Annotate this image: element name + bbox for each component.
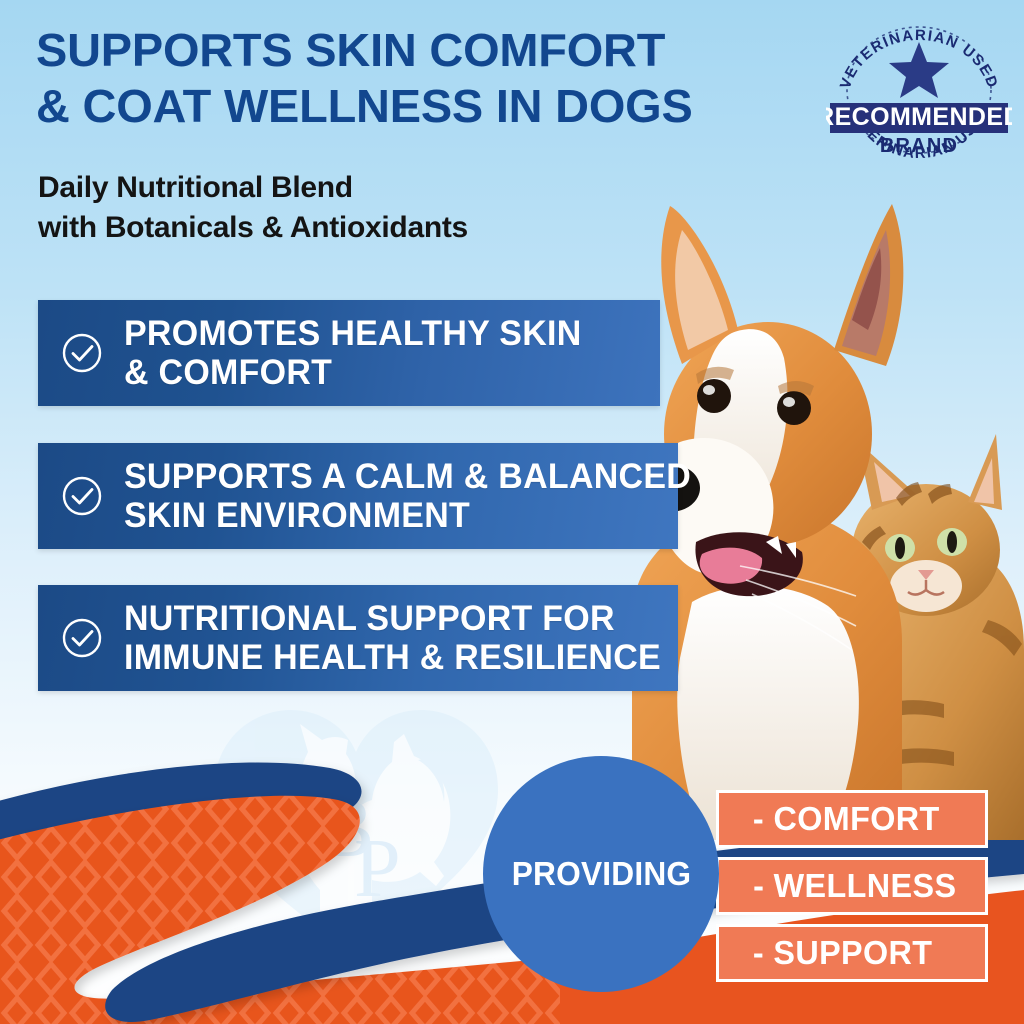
providing-list: - COMFORT - WELLNESS - SUPPORT: [716, 790, 988, 991]
veterinarian-recommended-badge: VETERINARIAN USED VETERINARIAN USED RECO…: [826, 18, 1012, 158]
feature-bar-2: SUPPORTS A CALM & BALANCED SKIN ENVIRONM…: [38, 443, 678, 549]
check-circle-icon: [60, 331, 104, 375]
feature-2-line-2: SKIN ENVIRONMENT: [124, 496, 691, 535]
feature-1-line-2: & COMFORT: [124, 353, 582, 392]
providing-circle: PROVIDING: [483, 756, 719, 992]
promo-graphic: B P: [0, 0, 1024, 1024]
feature-2-line-1: SUPPORTS A CALM & BALANCED: [124, 457, 691, 496]
headline-line-2: & COAT WELLNESS IN DOGS: [36, 78, 750, 134]
check-circle-icon: [60, 616, 104, 660]
feature-bar-1: PROMOTES HEALTHY SKIN & COMFORT: [38, 300, 660, 406]
providing-item-label: - COMFORT: [753, 800, 940, 838]
feature-3-line-2: IMMUNE HEALTH & RESILIENCE: [124, 638, 661, 677]
check-circle-icon: [60, 474, 104, 518]
providing-item-support: - SUPPORT: [716, 924, 988, 982]
feature-bar-2-text: SUPPORTS A CALM & BALANCED SKIN ENVIRONM…: [124, 457, 691, 535]
providing-item-wellness: - WELLNESS: [716, 857, 988, 915]
providing-label: PROVIDING: [511, 855, 691, 893]
subheadline: Daily Nutritional Blend with Botanicals …: [38, 168, 598, 247]
feature-bar-3-text: NUTRITIONAL SUPPORT FOR IMMUNE HEALTH & …: [124, 599, 661, 677]
subheadline-line-1: Daily Nutritional Blend: [38, 168, 598, 208]
page-title: SUPPORTS SKIN COMFORT & COAT WELLNESS IN…: [36, 22, 750, 134]
feature-bar-3: NUTRITIONAL SUPPORT FOR IMMUNE HEALTH & …: [38, 585, 678, 691]
subheadline-line-2: with Botanicals & Antioxidants: [38, 208, 598, 248]
feature-bar-1-text: PROMOTES HEALTHY SKIN & COMFORT: [124, 314, 582, 392]
star-icon: [889, 42, 949, 98]
badge-sub-text: BRAND: [880, 135, 958, 157]
providing-item-comfort: - COMFORT: [716, 790, 988, 848]
feature-1-line-1: PROMOTES HEALTHY SKIN: [124, 314, 582, 353]
badge-banner-text: RECOMMENDED: [826, 103, 1012, 131]
feature-3-line-1: NUTRITIONAL SUPPORT FOR: [124, 599, 661, 638]
providing-item-label: - WELLNESS: [753, 867, 956, 905]
providing-item-label: - SUPPORT: [753, 934, 933, 972]
headline-line-1: SUPPORTS SKIN COMFORT: [36, 24, 665, 76]
